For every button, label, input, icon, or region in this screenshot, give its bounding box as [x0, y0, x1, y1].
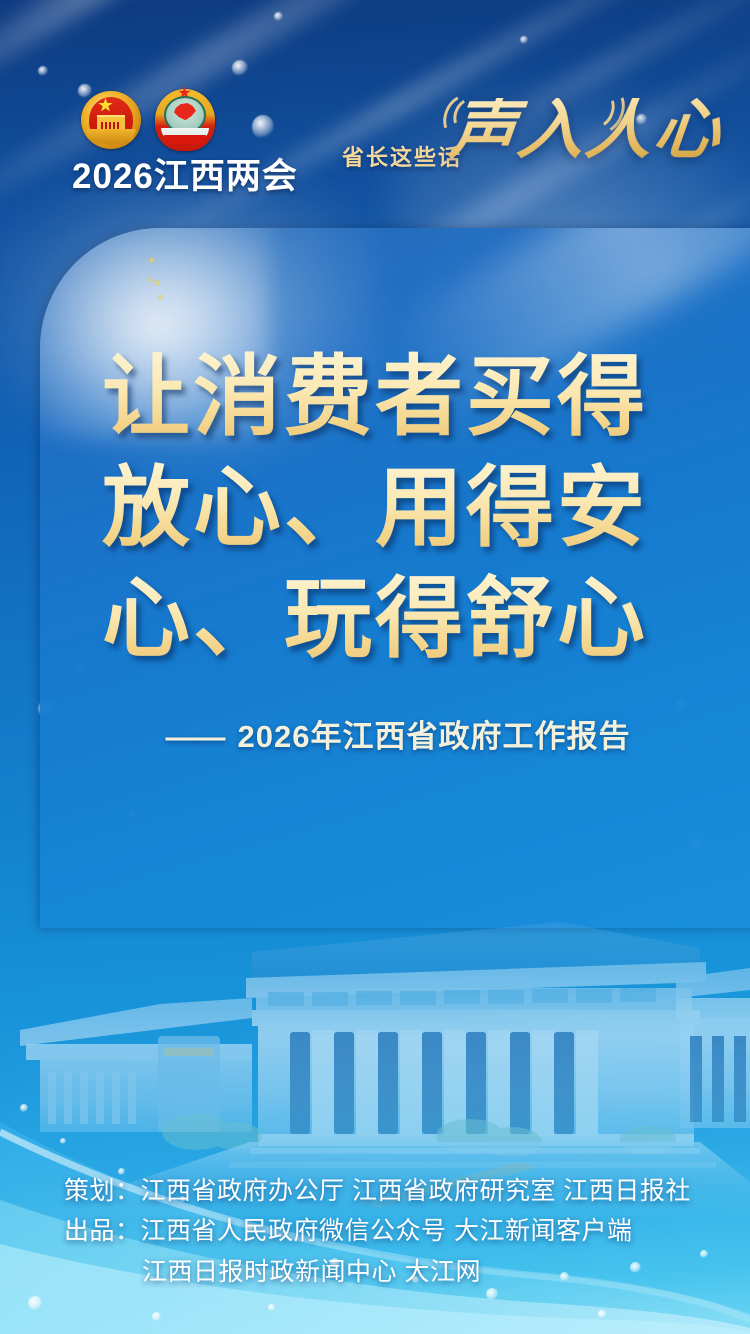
- credits-line-planning: 策划：江西省政府办公厅 江西省政府研究室 江西日报社: [64, 1171, 750, 1212]
- attribution-dash: ——: [166, 719, 224, 754]
- headline-line-2: 放心、用得安: [0, 455, 750, 566]
- attribution-text: 2026年江西省政府工作报告: [238, 719, 631, 754]
- headline-line-3: 心、玩得舒心: [0, 566, 750, 677]
- sparkle-dot: [152, 1312, 161, 1321]
- brand-main-title: 声入人心: [447, 98, 726, 164]
- brand-prefix-text: 省长这些话: [342, 140, 462, 172]
- headline-line-1: 让消费者买得: [0, 344, 750, 455]
- emblem-group: ★ ★ ★ ★ ★ ★: [78, 85, 218, 157]
- brand-lockup: 省长这些话 声入人心: [342, 92, 722, 202]
- cppcc-emblem-icon: ★: [152, 85, 218, 157]
- poster-root: ★ ★ ★ ★ ★ ★ 2026江西两会 省长这些话: [0, 0, 750, 1334]
- sparkle-dot: [268, 1304, 275, 1311]
- sparkle-dot: [28, 1296, 42, 1310]
- headline-attribution: ——2026年江西省政府工作报告: [0, 711, 750, 756]
- footer-credits: 策划：江西省政府办公厅 江西省政府研究室 江西日报社 出品：江西省人民政府微信公…: [0, 1171, 750, 1293]
- credits-line-production-cont: 江西日报时政新闻中心 大江网: [64, 1252, 750, 1293]
- headline-block: 让消费者买得 放心、用得安 心、玩得舒心 ——2026年江西省政府工作报告: [0, 344, 750, 756]
- poster-header: ★ ★ ★ ★ ★ ★ 2026江西两会 省长这些话: [0, 0, 750, 210]
- national-emblem-icon: ★ ★ ★ ★ ★: [78, 85, 144, 157]
- government-building-illustration: [0, 886, 750, 1216]
- meeting-title: 2026江西两会: [72, 148, 298, 199]
- sparkle-dot: [598, 1310, 606, 1318]
- credits-line-production: 出品：江西省人民政府微信公众号 大江新闻客户端: [64, 1211, 750, 1252]
